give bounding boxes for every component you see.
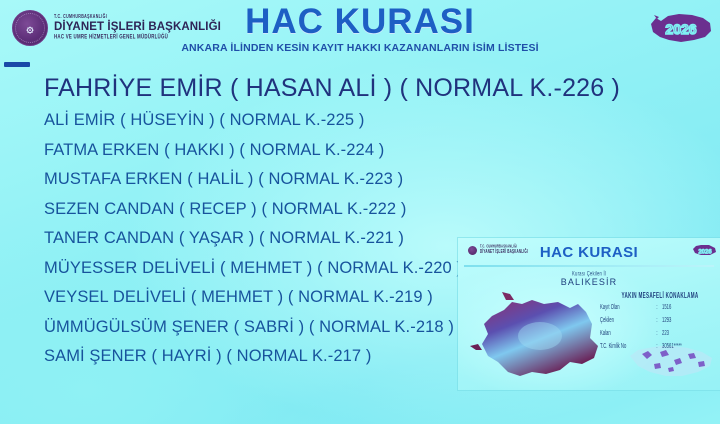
list-item-lead: FAHRİYE EMİR ( HASAN ALİ ) ( NORMAL K.-2… <box>44 72 684 106</box>
year-badge: 2026 <box>648 6 714 50</box>
stat-row: Çekilen : 1293 <box>600 315 720 324</box>
inset-turkey-map-icon: 2026 <box>692 242 718 259</box>
inset-stats: YAKIN MESAFELİ KONAKLAMA Kayıt Olan : 15… <box>600 291 720 348</box>
header-accent-dash <box>4 62 30 67</box>
inset-year-badge: 2026 <box>692 242 718 259</box>
list-item: MUSTAFA ERKEN ( HALİL ) ( NORMAL K.-223 … <box>44 165 684 195</box>
inset-title: HAC KURASI <box>458 244 720 261</box>
header: ۞ T.C. CUMHURBAŞKANLIĞI DİYANET İŞLERİ B… <box>0 0 720 57</box>
stat-value: 1516 <box>662 302 671 311</box>
inset-year-text: 2026 <box>698 250 712 256</box>
stat-separator: : <box>652 315 662 324</box>
inset-panel: T.C. CUMHURBAŞKANLIĞI DİYANET İŞLERİ BAŞ… <box>458 238 720 390</box>
stat-separator: : <box>652 302 662 311</box>
stat-row: Kalan : 223 <box>600 328 720 337</box>
slide-canvas: ۞ T.C. CUMHURBAŞKANLIĞI DİYANET İŞLERİ B… <box>0 0 720 424</box>
list-item: ALİ EMİR ( HÜSEYİN ) ( NORMAL K.-225 ) <box>44 106 684 136</box>
stat-label: T.C. Kimlik No <box>600 341 652 350</box>
stat-row: T.C. Kimlik No : 30561***** <box>600 341 720 350</box>
inset-draw-label: Kurası Çekilen İl <box>458 269 720 277</box>
stat-value: 1293 <box>662 315 671 324</box>
stat-label: Çekilen <box>600 315 652 324</box>
stat-label: Kalan <box>600 328 652 337</box>
stat-separator: : <box>652 328 662 337</box>
list-item: FATMA ERKEN ( HAKKI ) ( NORMAL K.-224 ) <box>44 136 684 166</box>
year-badge-text: 2026 <box>665 21 696 37</box>
turkey-map-icon: 2026 <box>648 6 714 50</box>
list-item: SEZEN CANDAN ( RECEP ) ( NORMAL K.-222 ) <box>44 195 684 225</box>
stats-header: YAKIN MESAFELİ KONAKLAMA <box>600 291 720 300</box>
page-subtitle: ANKARA İLİNDEN KESİN KAYIT HAKKI KAZANAN… <box>0 42 720 54</box>
inset-divider <box>464 265 714 267</box>
stat-separator: : <box>652 341 662 350</box>
inset-city-name: BALIKESİR <box>458 277 720 287</box>
title-block: HAC KURASI ANKARA İLİNDEN KESİN KAYIT HA… <box>0 4 720 54</box>
stat-value: 30561***** <box>662 341 682 350</box>
page-title: HAC KURASI <box>0 4 720 39</box>
stat-label: Kayıt Olan <box>600 302 652 311</box>
stat-value: 223 <box>662 328 669 337</box>
stat-row: Kayıt Olan : 1516 <box>600 302 720 311</box>
